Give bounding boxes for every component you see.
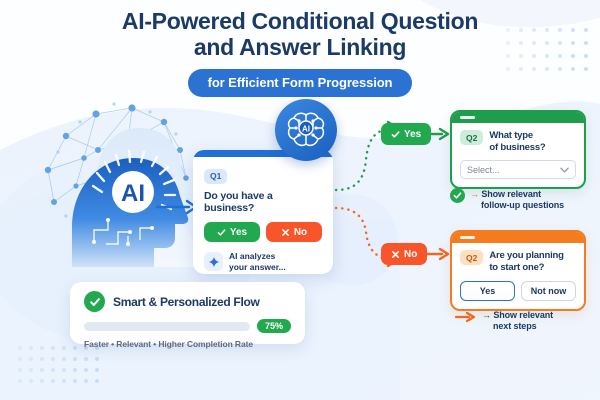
green-note-line-1: Show relevant [481,189,541,199]
header-dash-icon [460,236,475,239]
brain-ai-label: AI [302,125,310,134]
no-to-card-arrow-icon [425,246,453,264]
green-note-line-2: follow-up questions [470,200,564,211]
flow-card-title: Smart & Personalized Flow [113,295,260,309]
card-header-green [452,112,584,123]
infographic-canvas: AI-Powered Conditional Question and Answ… [0,0,600,400]
q1-yes-button[interactable]: Yes [204,222,260,242]
q1-answer-buttons: Yes No [204,222,322,242]
check-icon [217,228,226,237]
smart-flow-card: Smart & Personalized Flow 75% Faster • R… [70,282,305,344]
orange-question-line-1: Are you planning [489,250,563,261]
orange-note-arrow: → [482,310,491,320]
green-note-arrow: → [470,189,479,199]
orange-question-line-2: to start one? [489,262,544,273]
green-question-line-1: What type [489,130,533,141]
ai-note-line-1: AI analyzes [229,251,275,261]
progress-row: 75% [84,319,291,333]
business-type-select[interactable]: Select... [460,160,576,179]
green-note-text: → Show relevant follow-up questions [470,189,564,211]
result-card-orange: Q2 Are you planning to start one? Yes No… [450,230,586,311]
branch-pill-yes[interactable]: Yes [381,123,431,145]
dot-grid-bottom-left [18,346,106,390]
orange-note-line-2: next steps [482,321,537,332]
question-card-q1: Q1 Do you have a business? Yes No [193,150,333,274]
page-title: AI-Powered Conditional Question and Answ… [0,8,600,60]
q1-no-button[interactable]: No [266,222,322,242]
ai-head-label: AI [121,180,145,207]
ai-brain-circuit-icon: AI [283,107,329,153]
orange-yes-button[interactable]: Yes [460,281,515,301]
check-circle-icon [84,291,105,312]
chevron-down-icon [560,167,569,173]
flow-card-subtitle: Faster • Relevant • Higher Completion Ra… [84,339,291,349]
check-icon [391,130,400,139]
result-card-green: Q2 What type of business? Select... [450,110,586,189]
green-card-question: What type of business? [489,130,545,153]
ai-note-line-2: your answer... [229,262,286,272]
title-line-1: AI-Powered Conditional Question [122,8,478,34]
ai-brain-badge: AI [275,99,337,161]
ai-analyze-text: AI analyzes your answer... [229,251,286,272]
orange-note-text: → Show relevant next steps [482,310,553,332]
ai-analyze-note: AI analyzes your answer... [204,251,322,272]
check-circle-icon [450,188,465,203]
orange-note-line-1: Show relevant [493,310,553,320]
ai-head-illustration: AI [36,92,206,267]
green-outcome-note: → Show relevant follow-up questions [450,189,564,211]
orange-arrow-icon [455,311,477,323]
orange-card-question: Are you planning to start one? [489,250,563,273]
cross-icon [391,250,400,259]
green-question-line-2: of business? [489,142,545,153]
branch-pill-yes-label: Yes [404,129,421,140]
ai-head-network-icon: AI [36,92,206,267]
green-card-badge: Q2 [460,130,483,145]
cross-icon [281,228,290,237]
branch-pill-no-label: No [404,249,417,260]
orange-answer-buttons: Yes Not now [460,281,576,301]
q1-yes-label: Yes [230,227,247,238]
card-header-orange [452,232,584,243]
orange-outcome-note: → Show relevant next steps [455,310,553,332]
progress-track [84,322,250,331]
q1-badge: Q1 [204,169,227,184]
q1-question-text: Do you have a business? [204,190,322,214]
orange-notnow-button[interactable]: Not now [521,281,576,301]
progress-percent-badge: 75% [257,319,291,333]
branch-pill-no[interactable]: No [381,243,427,265]
header-dash-icon [460,116,475,119]
orange-card-badge: Q2 [460,250,483,265]
header: AI-Powered Conditional Question and Answ… [0,8,600,97]
sparkle-icon [204,252,223,271]
title-line-2: and Answer Linking [0,34,600,60]
subtitle-pill: for Efficient Form Progression [188,69,413,97]
select-value: Select... [467,165,500,175]
q1-no-label: No [294,227,307,238]
